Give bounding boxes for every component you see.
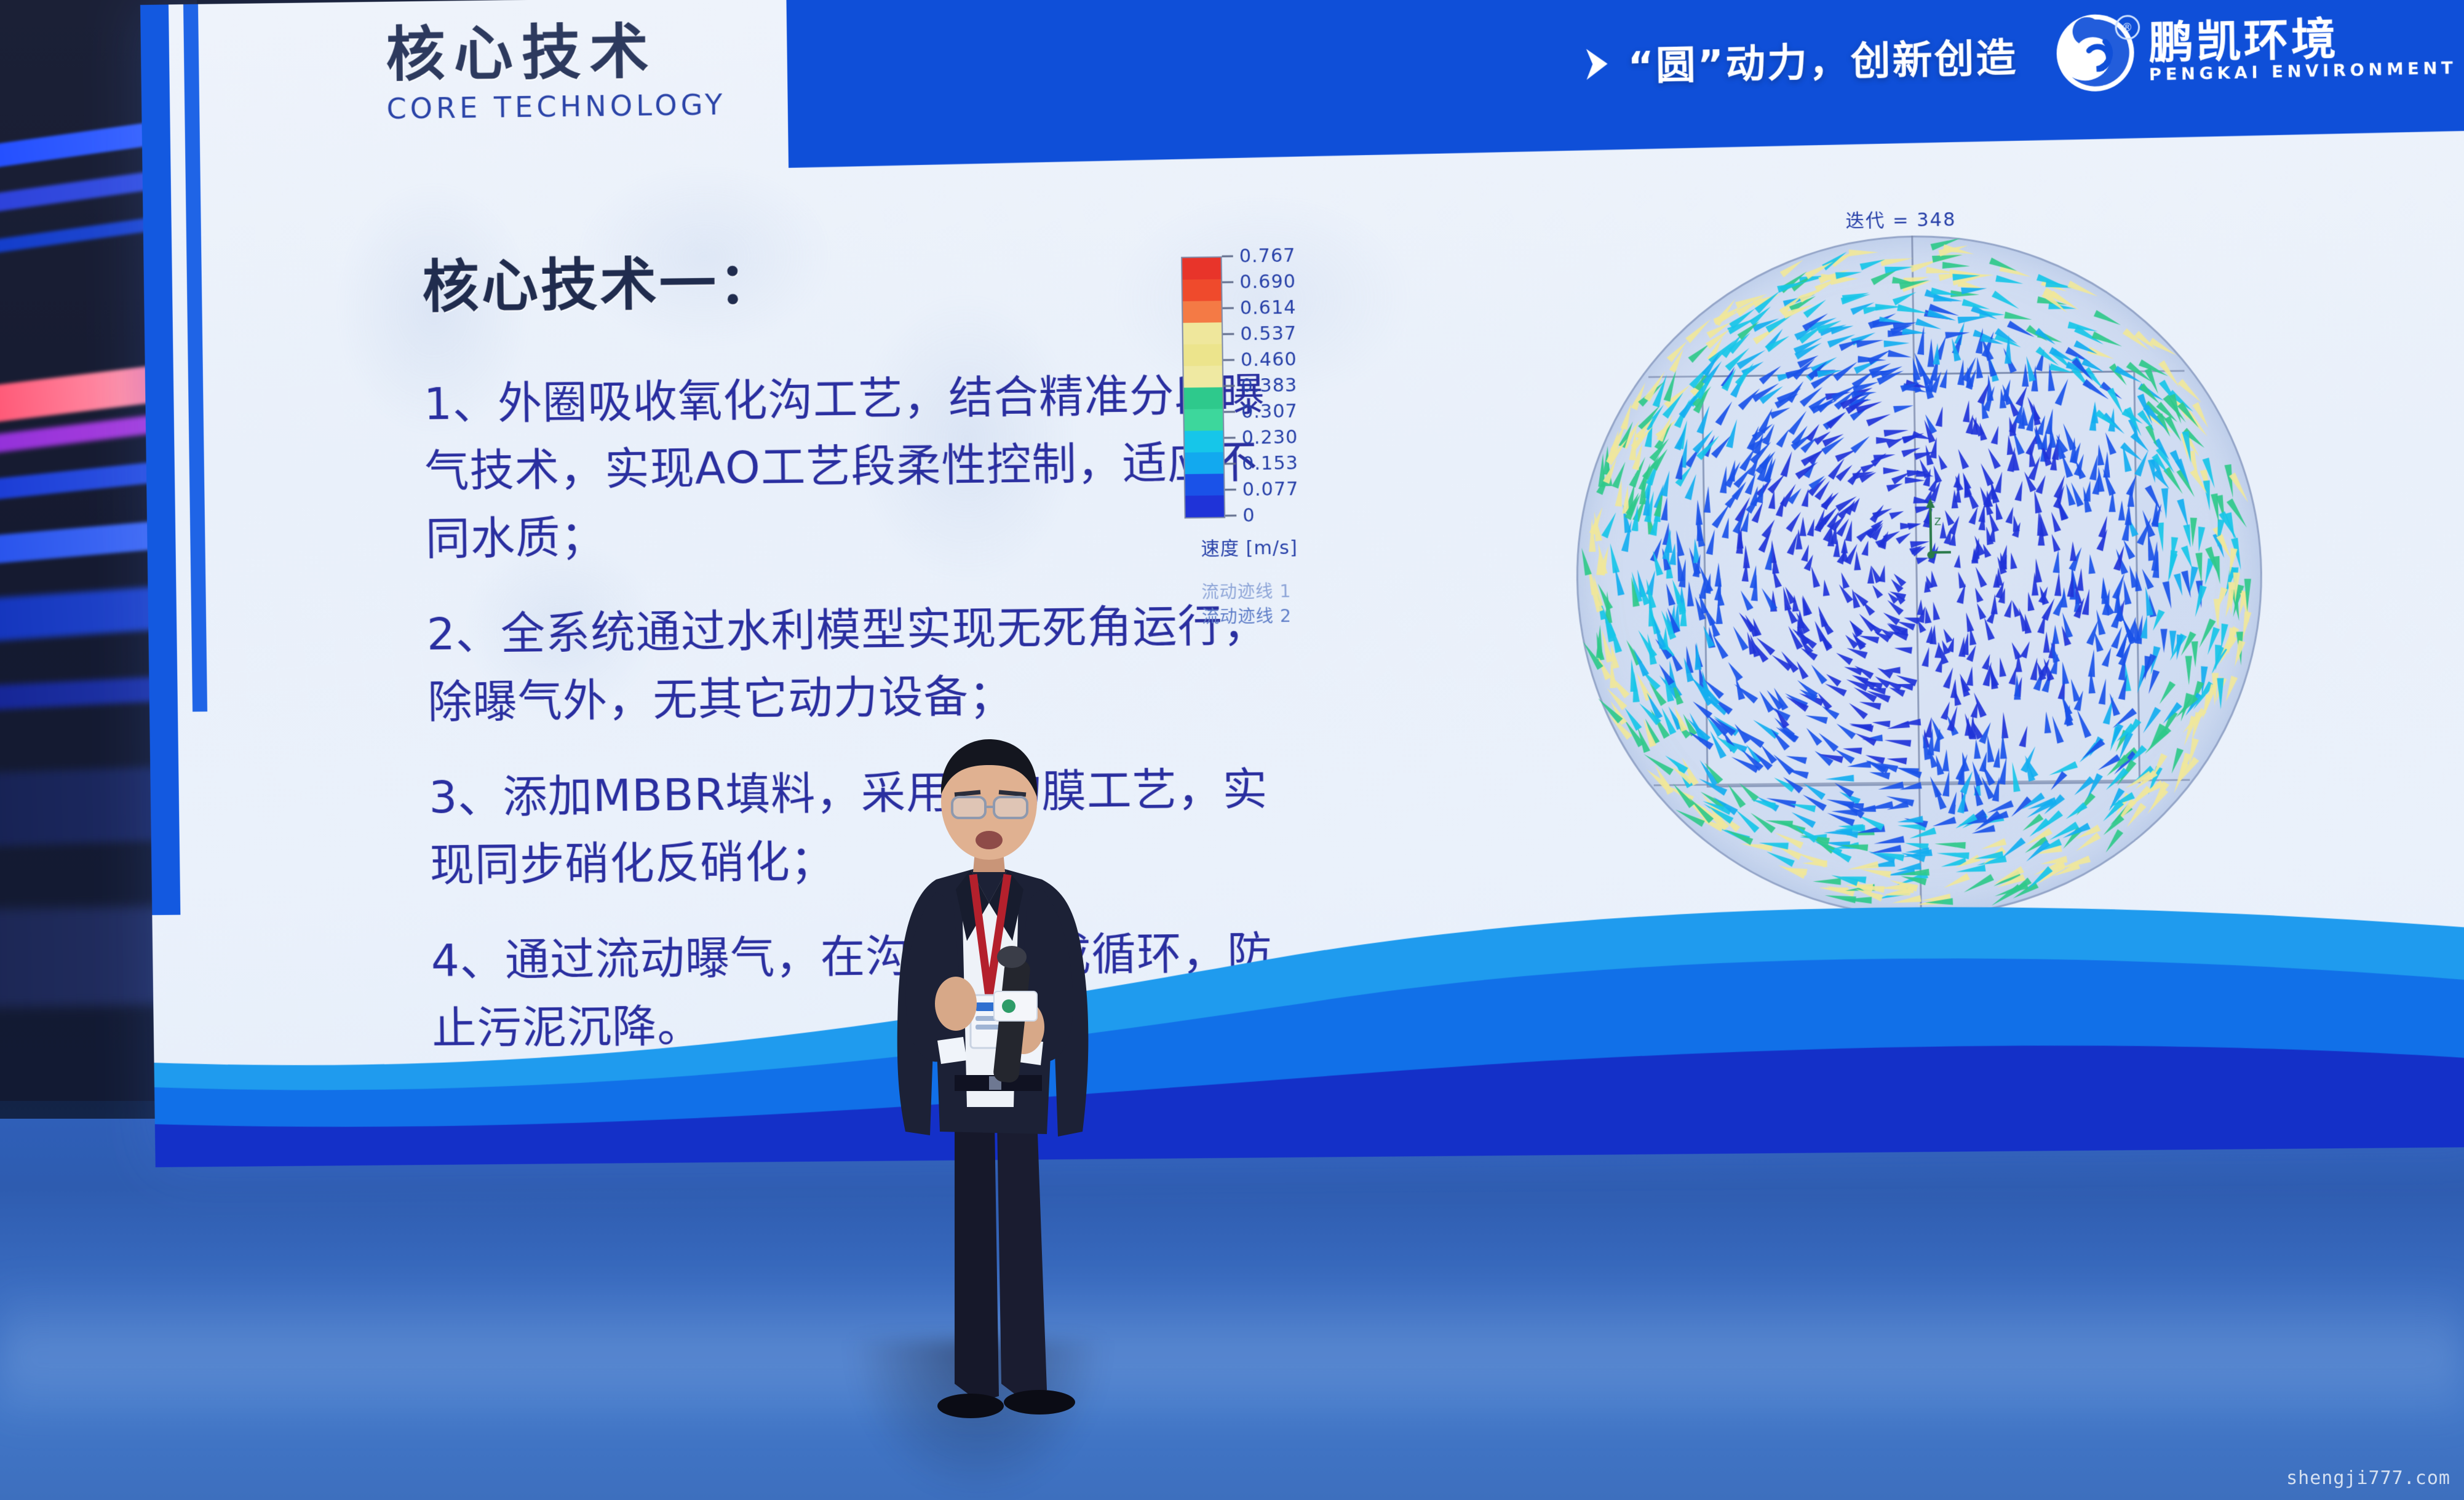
legend-trace-2: 流动迹线 2 <box>1202 602 1372 629</box>
company-logo: ® 鹏凯环境 PENGKAI ENVIRONMENT <box>2053 4 2457 95</box>
slide-accent-bar-inner <box>183 4 207 712</box>
cfd-colorbar: 0.767 0.690 0.614 0.537 0.460 0.383 0.30… <box>1181 255 1372 629</box>
presenter-shoe <box>937 1394 1004 1418</box>
svg-text:Z: Z <box>1934 516 1941 528</box>
presenter-speaker <box>862 738 1121 1445</box>
header-tagline-text: “圆”动力，创新创造 <box>1627 26 2018 92</box>
presenter-hand-left <box>935 977 977 1031</box>
colorbar-unit-label: 速度 [m/s] <box>1201 531 1371 560</box>
cfd-iteration-label: 迭代 = 348 <box>1845 204 1956 232</box>
chevron-right-icon <box>1583 46 1612 81</box>
presenter-shoe <box>1004 1390 1075 1415</box>
colorbar-tick: 0.690 <box>1239 271 1296 293</box>
cfd-legend: 速度 [m/s] 流动迹线 1 流动迹线 2 <box>1201 531 1372 629</box>
presenter-mouth <box>976 831 1003 849</box>
image-watermark: shengji777.com <box>2286 1467 2450 1489</box>
colorbar-tick: 0.460 <box>1241 348 1297 370</box>
swirl-logo-icon: ® <box>2053 11 2137 95</box>
floor-sheen <box>0 1279 2464 1426</box>
deck-title-en: CORE TECHNOLOGY <box>386 87 769 125</box>
axis-triad-icon: Z <box>1924 495 1953 563</box>
colorbar-tick: 0.537 <box>1240 322 1297 344</box>
deck-title-cn: 核心技术 <box>386 19 769 86</box>
colorbar-tick: 0.077 <box>1242 478 1299 500</box>
colorbar-gradient <box>1181 256 1225 518</box>
colorbar-tick-labels: 0.767 0.690 0.614 0.537 0.460 0.383 0.30… <box>1222 255 1369 516</box>
colorbar-tick: 0.767 <box>1239 245 1296 267</box>
logo-name-cn: 鹏凯环境 <box>2148 14 2457 65</box>
registered-trademark-icon: ® <box>2115 15 2140 40</box>
colorbar-tick: 0.153 <box>1242 452 1298 474</box>
logo-text-block: 鹏凯环境 PENGKAI ENVIRONMENT <box>2148 14 2457 83</box>
colorbar-tick: 0.614 <box>1240 296 1297 319</box>
colorbar-tick: 0 <box>1242 504 1255 526</box>
slide-wave-decoration <box>152 855 2464 1167</box>
slide-heading: 核心技术一： <box>422 237 779 323</box>
presentation-slide: 核心技术 CORE TECHNOLOGY “圆”动力，创新创造 ® <box>140 0 2464 1167</box>
colorbar-tick: 0.383 <box>1241 375 1297 397</box>
deck-title-block: 核心技术 CORE TECHNOLOGY <box>386 19 769 125</box>
colorbar-tick: 0.307 <box>1241 400 1298 423</box>
screenshot-root: 核心技术 CORE TECHNOLOGY “圆”动力，创新创造 ® <box>0 0 2464 1500</box>
velocity-arrow-field <box>1572 231 2267 919</box>
legend-trace-1: 流动迹线 1 <box>1201 577 1372 603</box>
header-tagline: “圆”动力，创新创造 <box>1583 26 2018 93</box>
colorbar-tick: 0.230 <box>1241 426 1298 448</box>
slide-header-content: “圆”动力，创新创造 ® 鹏凯环境 PENGKAI ENVIRONMENT <box>786 0 2464 168</box>
cfd-figure: 迭代 = 348 <box>1143 180 2449 974</box>
cfd-velocity-vector-plot: Z <box>1572 231 2267 919</box>
